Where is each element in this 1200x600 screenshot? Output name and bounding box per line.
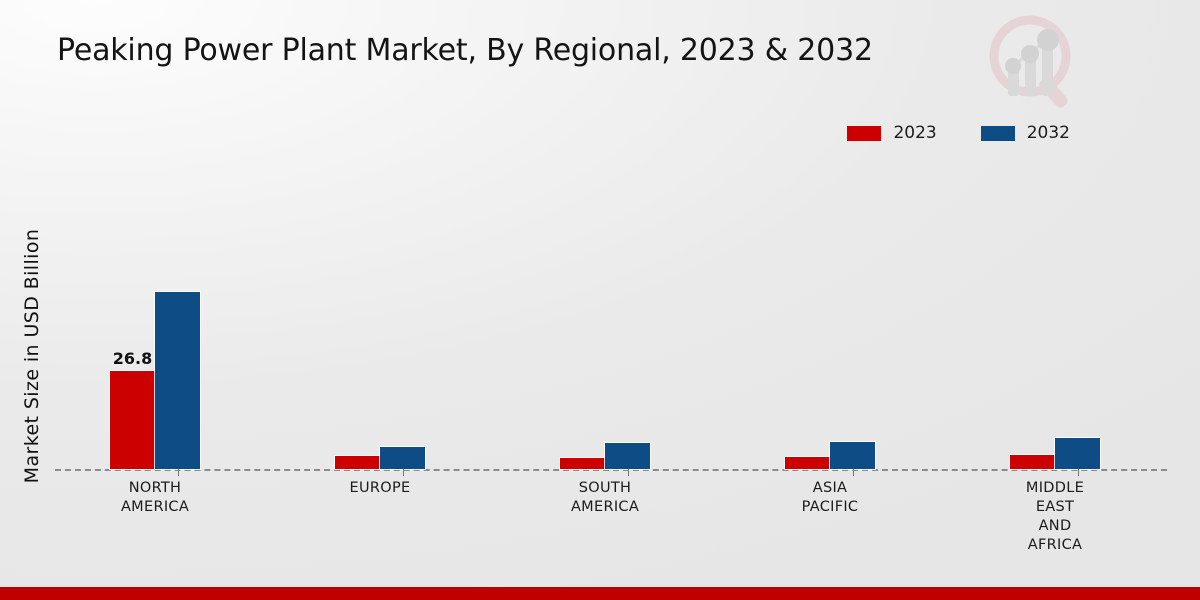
category-label-south-america: SOUTH AMERICA bbox=[505, 479, 705, 517]
bar-2032-europe[interactable] bbox=[380, 447, 425, 469]
bar-group-asia-pacific bbox=[784, 269, 876, 469]
bar-2023-north-america[interactable]: 26.8 bbox=[110, 371, 155, 469]
bar-group-middle-east-and-africa bbox=[1009, 269, 1101, 469]
category-label-asia-pacific: ASIA PACIFIC bbox=[730, 479, 930, 517]
axis-tick-middle-east-and-africa bbox=[1078, 469, 1079, 476]
bar-group-europe bbox=[334, 269, 426, 469]
bar-group-north-america: 26.8 bbox=[109, 269, 201, 469]
category-label-middle-east-and-africa: MIDDLE EAST AND AFRICA bbox=[955, 479, 1155, 555]
axis-tick-north-america bbox=[178, 469, 179, 476]
bar-2032-south-america[interactable] bbox=[605, 443, 650, 469]
x-axis-baseline bbox=[55, 469, 1167, 471]
axis-tick-europe bbox=[403, 469, 404, 476]
chart-canvas: Peaking Power Plant Market, By Regional,… bbox=[0, 0, 1200, 600]
category-label-north-america: NORTH AMERICA bbox=[55, 479, 255, 517]
bar-value-label-north-america-2023: 26.8 bbox=[113, 349, 152, 368]
plot-area: 26.8 NORTH AMERICA EUROPE bbox=[0, 0, 1200, 600]
bar-2032-middle-east-and-africa[interactable] bbox=[1055, 438, 1100, 469]
bar-2023-europe[interactable] bbox=[335, 456, 380, 469]
bar-2023-south-america[interactable] bbox=[560, 458, 605, 469]
bar-2032-north-america[interactable] bbox=[155, 292, 200, 469]
footer-accent-bar bbox=[0, 587, 1200, 600]
bar-2023-asia-pacific[interactable] bbox=[785, 457, 830, 469]
bar-2032-asia-pacific[interactable] bbox=[830, 442, 875, 469]
bar-2023-middle-east-and-africa[interactable] bbox=[1010, 455, 1055, 469]
axis-tick-asia-pacific bbox=[853, 469, 854, 476]
bar-group-south-america bbox=[559, 269, 651, 469]
axis-tick-south-america bbox=[628, 469, 629, 476]
category-label-europe: EUROPE bbox=[280, 479, 480, 498]
